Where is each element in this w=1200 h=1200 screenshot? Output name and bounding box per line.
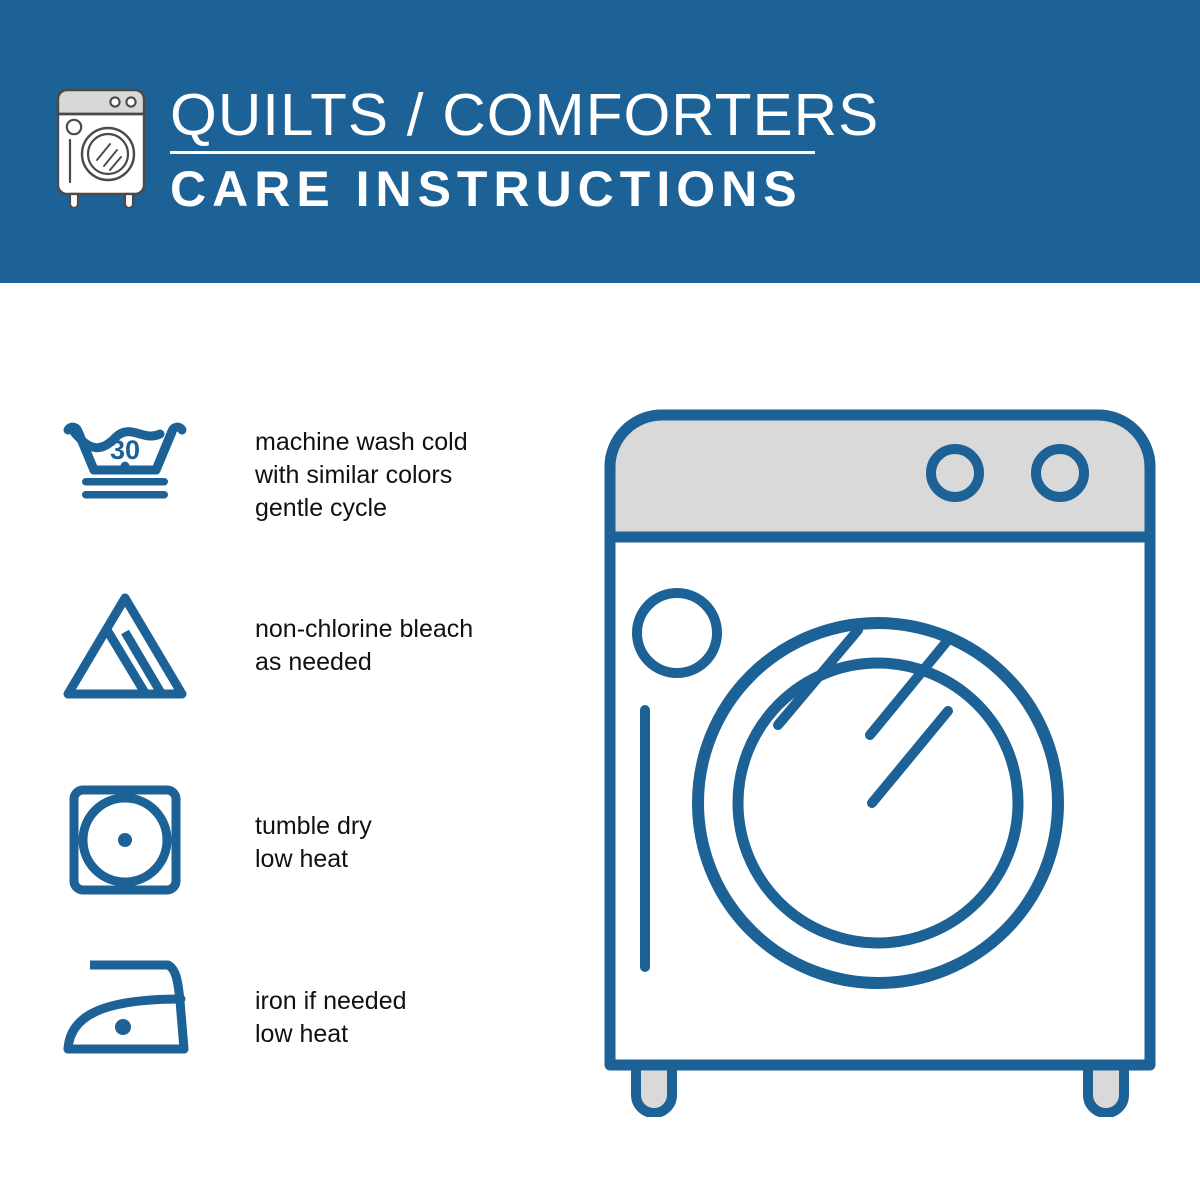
- page-title-secondary: CARE INSTRUCTIONS: [170, 162, 830, 216]
- header-title-block: QUILTS / COMFORTERS CARE INSTRUCTIONS: [170, 84, 830, 216]
- non-chlorine-bleach-triangle-icon: [60, 590, 190, 710]
- page-title-primary: QUILTS / COMFORTERS: [170, 84, 843, 146]
- front-load-washing-machine-illustration: [600, 405, 1160, 1117]
- care-label-tumble-dry: tumble dry low heat: [255, 810, 372, 876]
- wash-tub-30-gentle-icon: 30: [60, 418, 190, 538]
- care-label-iron: iron if needed low heat: [255, 985, 407, 1051]
- wash-temperature-value: 30: [110, 435, 140, 465]
- tumble-dry-low-heat-icon: [60, 782, 190, 902]
- washing-machine-logo-icon: [52, 82, 156, 208]
- title-divider: [170, 151, 815, 154]
- iron-low-heat-icon: [60, 955, 190, 1075]
- header-banner: QUILTS / COMFORTERS CARE INSTRUCTIONS: [0, 0, 1200, 283]
- care-label-wash: machine wash cold with similar colors ge…: [255, 426, 468, 525]
- care-label-bleach: non-chlorine bleach as needed: [255, 613, 473, 679]
- care-instructions-page: QUILTS / COMFORTERS CARE INSTRUCTIONS 30…: [0, 0, 1200, 1200]
